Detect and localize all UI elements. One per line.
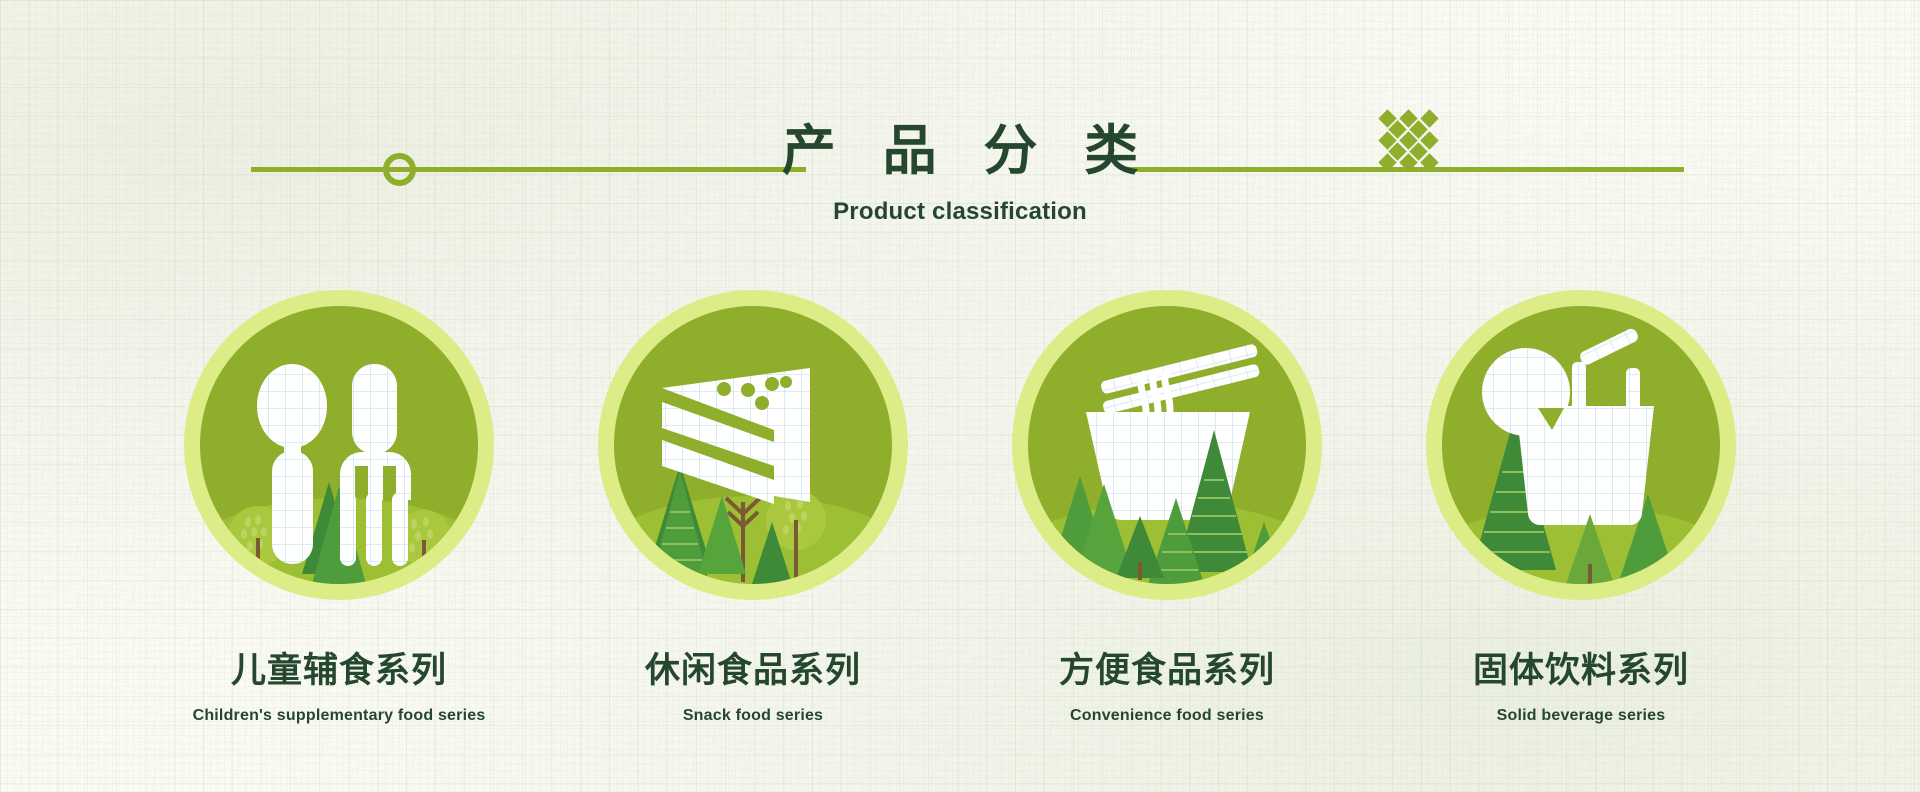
icon-badge (184, 290, 494, 600)
icon-badge (1012, 290, 1322, 600)
spoon-fork-icon (200, 306, 478, 584)
category-title-en: Snack food series (683, 707, 823, 725)
category-title-en: Convenience food series (1070, 707, 1264, 725)
icon-disc (200, 306, 478, 584)
category-title-cn: 儿童辅食系列 (231, 642, 447, 693)
category-title-cn: 固体饮料系列 (1473, 642, 1689, 693)
category-title-en: Children's supplementary food series (193, 707, 486, 725)
page-subtitle: Product classification (0, 198, 1920, 226)
category-title-cn: 休闲食品系列 (645, 642, 861, 693)
category-title-en: Solid beverage series (1497, 707, 1666, 725)
icon-disc (614, 306, 892, 584)
icon-disc (1028, 306, 1306, 584)
icon-badge (1426, 290, 1736, 600)
category-card-children-food[interactable]: 儿童辅食系列 Children's supplementary food ser… (184, 290, 494, 725)
icon-badge (598, 290, 908, 600)
beverage-glass-straw-icon (1442, 306, 1720, 584)
category-card-snack-food[interactable]: 休闲食品系列 Snack food series (598, 290, 908, 725)
page-title: 产 品 分 类 (0, 118, 1920, 184)
cake-slice-icon (614, 306, 892, 584)
product-category-list: 儿童辅食系列 Children's supplementary food ser… (0, 290, 1920, 725)
title-block: 产 品 分 类 Product classification (0, 118, 1920, 226)
category-title-cn: 方便食品系列 (1059, 642, 1275, 693)
noodle-bowl-chopsticks-icon (1028, 306, 1306, 584)
icon-disc (1442, 306, 1720, 584)
category-card-solid-beverage[interactable]: 固体饮料系列 Solid beverage series (1426, 290, 1736, 725)
page-header: 产 品 分 类 Product classification (0, 0, 1920, 250)
category-card-convenience-food[interactable]: 方便食品系列 Convenience food series (1012, 290, 1322, 725)
